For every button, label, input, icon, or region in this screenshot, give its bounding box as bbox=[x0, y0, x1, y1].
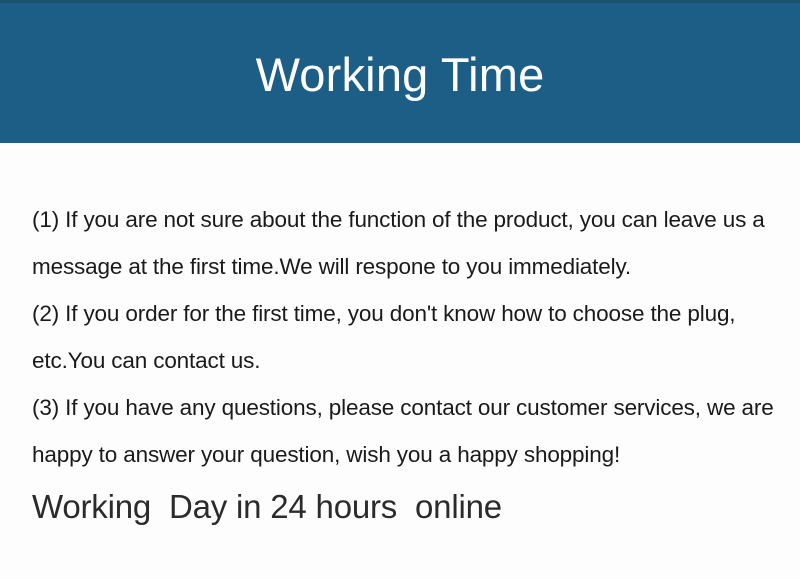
page-title: Working Time bbox=[256, 51, 545, 98]
header-banner: Working Time bbox=[0, 0, 800, 143]
availability-statement: Working Day in 24 hours online bbox=[32, 481, 776, 533]
working-time-infographic: Working Time (1) If you are not sure abo… bbox=[0, 0, 800, 579]
policy-line-3: (2) If you order for the first time, you… bbox=[32, 290, 776, 337]
policy-line-6: happy to answer your question, wish you … bbox=[32, 431, 776, 478]
policy-line-1: (1) If you are not sure about the functi… bbox=[32, 196, 776, 243]
policy-line-2: message at the first time.We will respon… bbox=[32, 243, 776, 290]
policy-line-4: etc.You can contact us. bbox=[32, 337, 776, 384]
content-section: (1) If you are not sure about the functi… bbox=[0, 143, 800, 579]
policy-line-5: (3) If you have any questions, please co… bbox=[32, 384, 776, 431]
